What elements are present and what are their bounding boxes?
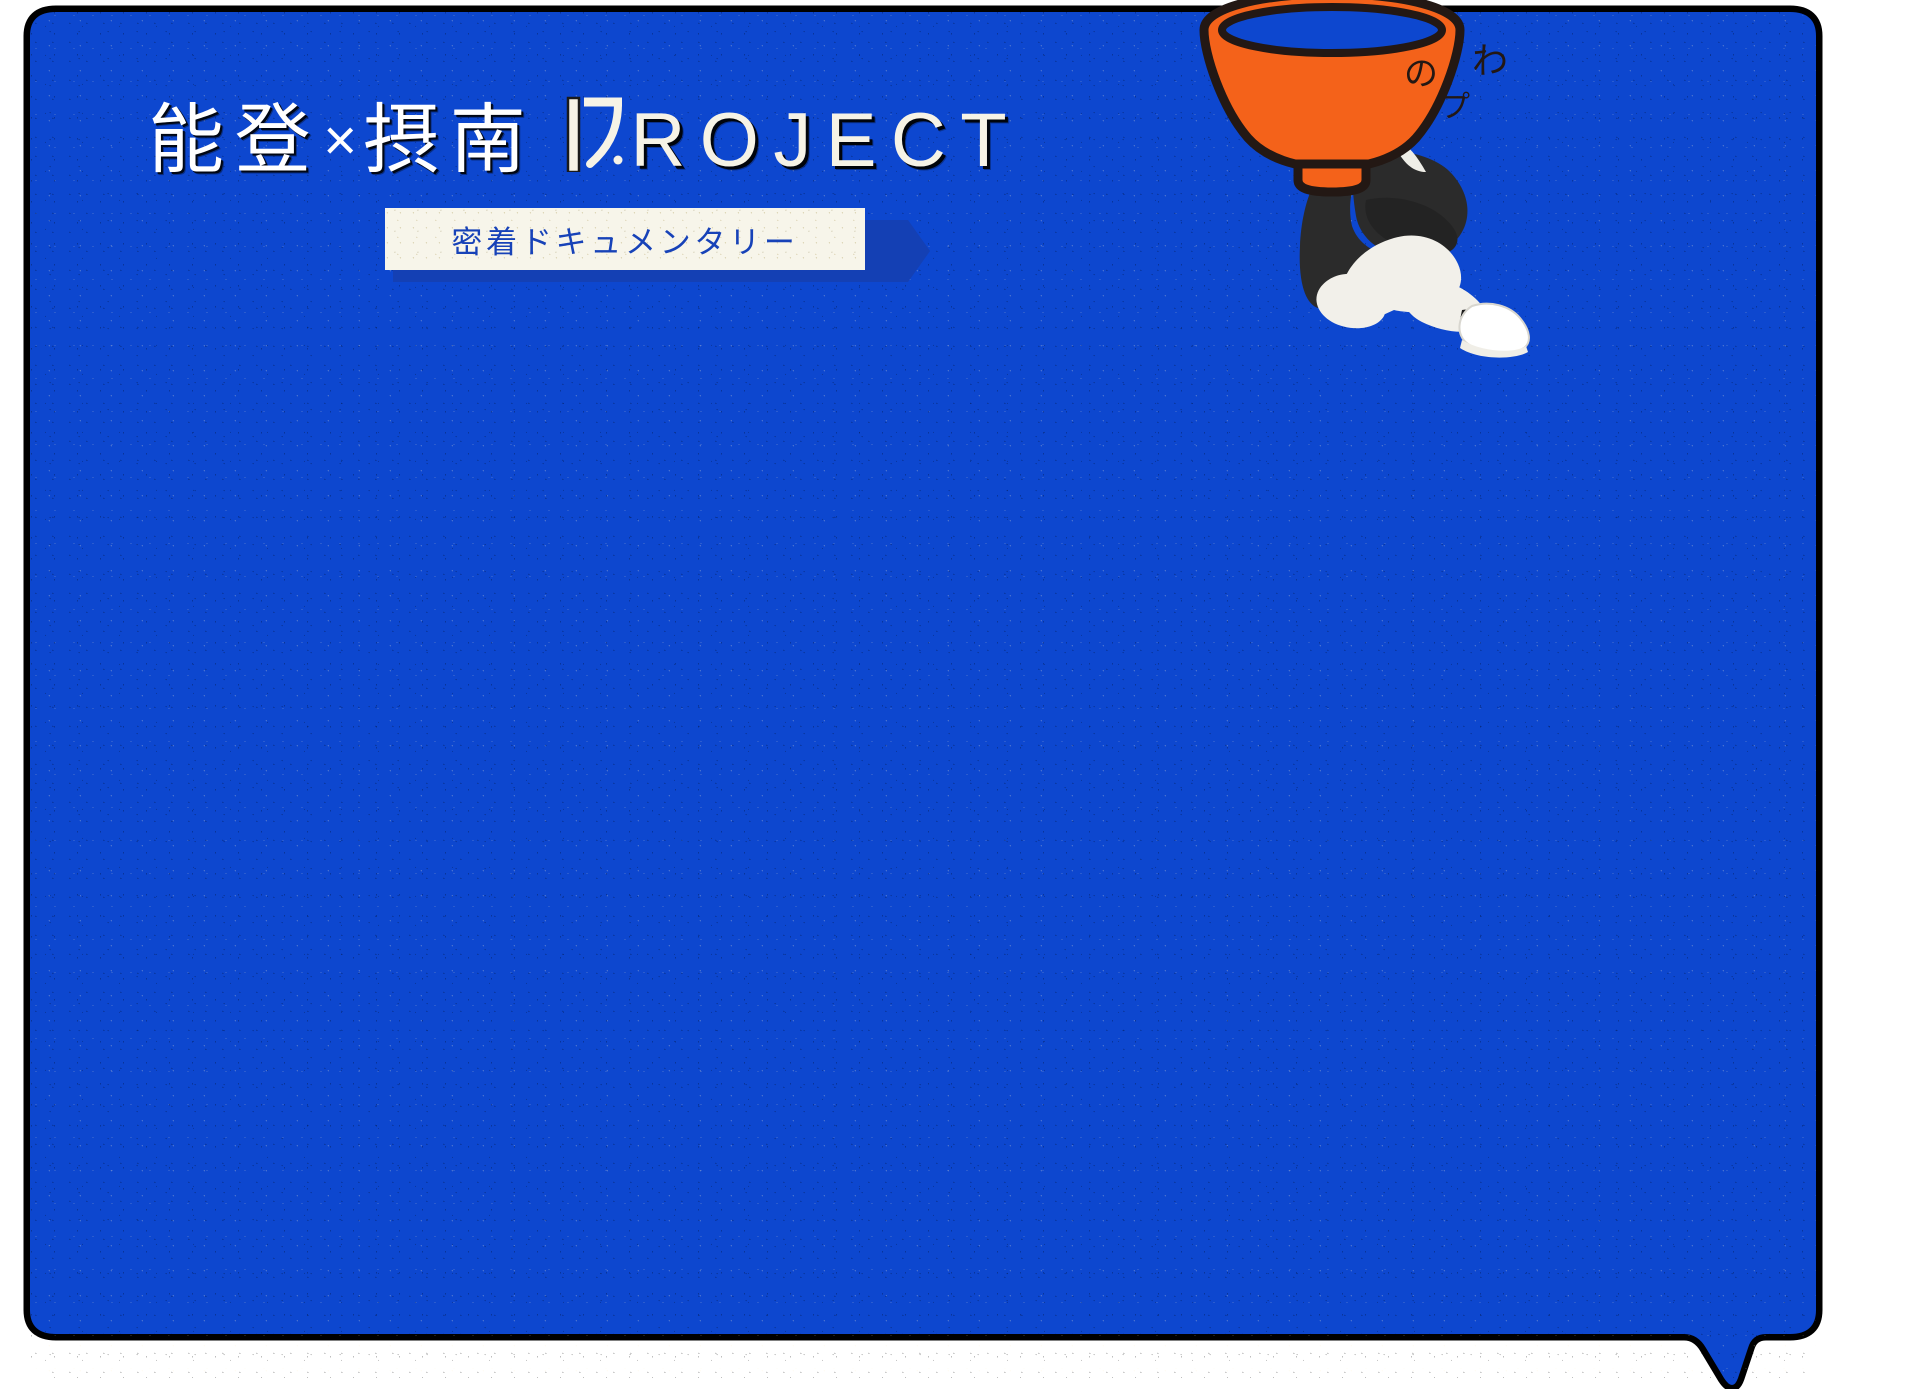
ribbon-face: 密着ドキュメンタリー — [385, 208, 865, 270]
title-en-rest: ROJECT — [630, 98, 1021, 183]
character-illustration — [1190, 0, 1610, 388]
bowl-rim — [1222, 7, 1442, 53]
stylized-p-icon — [562, 88, 626, 166]
title-jp-left: 能登 — [148, 103, 321, 179]
header: 能登 × 摂南 ROJECT — [0, 0, 1932, 400]
ribbon-label: 密着ドキュメンタリー — [451, 217, 798, 262]
screenshot-stage: 能登 × 摂南 ROJECT — [0, 0, 1932, 1389]
page-title: 能登 × 摂南 ROJECT — [148, 88, 1021, 179]
title-cross-icon: × — [323, 112, 357, 170]
bowl-foot — [1298, 164, 1366, 192]
title-jp-right: 摂南 — [363, 103, 536, 179]
bowl-head-character: の わ プ — [1190, 0, 1610, 388]
title-en: ROJECT — [562, 88, 1021, 179]
